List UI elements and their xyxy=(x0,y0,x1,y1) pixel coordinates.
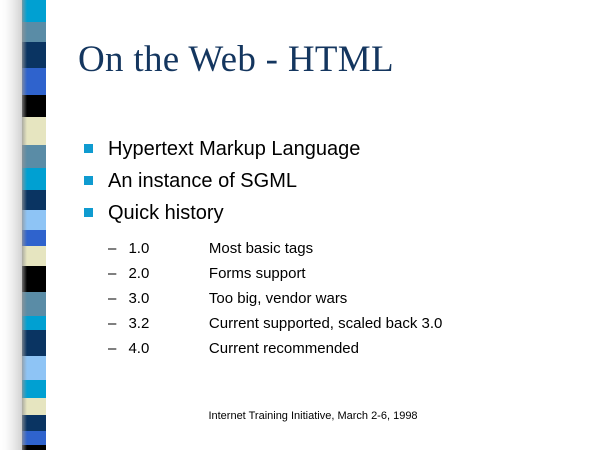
strip-band-12 xyxy=(22,266,46,292)
strip-band-5 xyxy=(22,117,46,145)
strip-band-15 xyxy=(22,330,46,356)
bullet-list-item: An instance of SGML xyxy=(84,166,554,198)
version-description: Forms support xyxy=(209,261,306,286)
strip-band-14 xyxy=(22,316,46,330)
version-history-list: – 1.0 Most basic tags – 2.0 Forms suppor… xyxy=(108,236,578,361)
square-bullet-icon xyxy=(84,208,93,217)
bullet-list-item: Quick history xyxy=(84,198,554,230)
bullet-list: Hypertext Markup Language An instance of… xyxy=(84,134,554,230)
version-number: 2.0 xyxy=(128,261,204,286)
version-description: Current supported, scaled back 3.0 xyxy=(209,311,442,336)
strip-color-bands xyxy=(22,0,46,450)
version-number: 1.0 xyxy=(128,236,204,261)
strip-band-6 xyxy=(22,145,46,168)
dash-bullet-icon: – xyxy=(108,336,124,361)
strip-band-11 xyxy=(22,246,46,266)
version-number: 3.2 xyxy=(128,311,204,336)
dash-bullet-icon: – xyxy=(108,311,124,336)
version-description: Current recommended xyxy=(209,336,359,361)
bullet-list-item: Hypertext Markup Language xyxy=(84,134,554,166)
bullet-item-label: Hypertext Markup Language xyxy=(108,138,360,160)
strip-band-9 xyxy=(22,210,46,230)
version-history-row: – 1.0 Most basic tags xyxy=(108,236,578,261)
strip-band-1 xyxy=(22,22,46,42)
strip-band-10 xyxy=(22,230,46,246)
dash-bullet-icon: – xyxy=(108,261,124,286)
strip-band-13 xyxy=(22,292,46,316)
version-history-row: – 3.2 Current supported, scaled back 3.0 xyxy=(108,311,578,336)
slide-footer: Internet Training Initiative, March 2-6,… xyxy=(0,409,600,424)
presentation-slide: On the Web - HTML Hypertext Markup Langu… xyxy=(0,0,600,450)
square-bullet-icon xyxy=(84,144,93,153)
decorative-color-strip xyxy=(0,0,46,450)
version-history-row: – 2.0 Forms support xyxy=(108,261,578,286)
bullet-item-label: An instance of SGML xyxy=(108,170,297,192)
strip-band-16 xyxy=(22,356,46,380)
dash-bullet-icon: – xyxy=(108,286,124,311)
strip-band-17 xyxy=(22,380,46,398)
version-number: 4.0 xyxy=(128,336,204,361)
bullet-item-label: Quick history xyxy=(108,202,224,224)
strip-band-2 xyxy=(22,42,46,68)
footer-text: Internet Training Initiative, March 2-6,… xyxy=(208,409,417,424)
square-bullet-icon xyxy=(84,176,93,185)
version-history-row: – 4.0 Current recommended xyxy=(108,336,578,361)
version-number: 3.0 xyxy=(128,286,204,311)
strip-band-7 xyxy=(22,168,46,190)
strip-band-8 xyxy=(22,190,46,210)
version-description: Too big, vendor wars xyxy=(209,286,347,311)
strip-band-0 xyxy=(22,0,46,22)
version-description: Most basic tags xyxy=(209,236,313,261)
strip-band-21 xyxy=(22,445,46,450)
slide-title: On the Web - HTML xyxy=(78,38,394,82)
strip-band-4 xyxy=(22,95,46,117)
strip-band-20 xyxy=(22,431,46,445)
strip-band-3 xyxy=(22,68,46,95)
dash-bullet-icon: – xyxy=(108,236,124,261)
version-history-row: – 3.0 Too big, vendor wars xyxy=(108,286,578,311)
